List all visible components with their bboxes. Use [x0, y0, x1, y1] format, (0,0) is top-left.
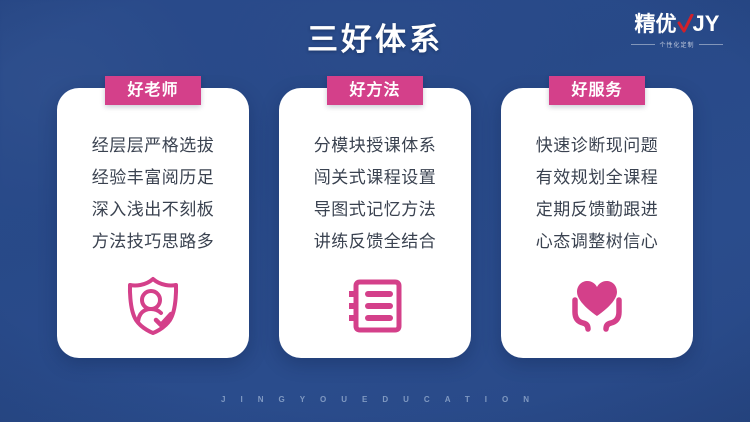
card-1-line-1: 经层层严格选拔 — [92, 130, 215, 162]
card-2-line-1: 分模块授课体系 — [314, 130, 437, 162]
red-check-icon — [677, 14, 694, 34]
card-2-lines: 分模块授课体系 闯关式课程设置 导图式记忆方法 讲练反馈全结合 — [279, 130, 471, 258]
heart-in-hands-icon — [501, 276, 693, 336]
badge-1-label: 好老师 — [127, 83, 178, 99]
logo-subtitle: 个性化定制 — [659, 40, 694, 49]
slide-root: 三好体系 精优 JY 个性化定制 经层层严格选拔 经验丰富阅历足 深入浅出不刻板 — [0, 0, 750, 422]
cards-container: 经层层严格选拔 经验丰富阅历足 深入浅出不刻板 方法技巧思路多 分模块授课体系 … — [0, 0, 750, 422]
logo-chinese-text: 精优 — [635, 14, 677, 35]
footer-brand-text: JINGYOUEDUCATION — [0, 395, 750, 404]
card-1-lines: 经层层严格选拔 经验丰富阅历足 深入浅出不刻板 方法技巧思路多 — [57, 130, 249, 258]
card-3-line-4: 心态调整树信心 — [536, 226, 659, 258]
shield-person-check-icon — [57, 276, 249, 336]
card-2-line-3: 导图式记忆方法 — [314, 194, 437, 226]
card-3-lines: 快速诊断现问题 有效规划全课程 定期反馈勤跟进 心态调整树信心 — [501, 130, 693, 258]
badge-good-service: 好服务 — [549, 76, 645, 105]
logo-english-text: JY — [693, 13, 720, 35]
card-1-line-4: 方法技巧思路多 — [92, 226, 215, 258]
badge-2-label: 好方法 — [349, 83, 400, 99]
card-3-line-1: 快速诊断现问题 — [536, 130, 659, 162]
card-good-method: 分模块授课体系 闯关式课程设置 导图式记忆方法 讲练反馈全结合 — [279, 88, 471, 358]
card-2-line-4: 讲练反馈全结合 — [314, 226, 437, 258]
brand-logo: 精优 JY 个性化定制 — [618, 8, 736, 52]
logo-rule-right — [699, 44, 723, 45]
card-1-line-2: 经验丰富阅历足 — [92, 162, 215, 194]
card-2-line-2: 闯关式课程设置 — [314, 162, 437, 194]
notebook-list-icon — [279, 276, 471, 336]
logo-rule-left — [631, 44, 655, 45]
card-good-teacher: 经层层严格选拔 经验丰富阅历足 深入浅出不刻板 方法技巧思路多 — [57, 88, 249, 358]
card-3-line-2: 有效规划全课程 — [536, 162, 659, 194]
logo-subtitle-row: 个性化定制 — [618, 40, 736, 49]
badge-good-method: 好方法 — [327, 76, 423, 105]
card-3-line-3: 定期反馈勤跟进 — [536, 194, 659, 226]
card-good-service: 快速诊断现问题 有效规划全课程 定期反馈勤跟进 心态调整树信心 — [501, 88, 693, 358]
logo-wordmark: 精优 JY — [635, 11, 720, 37]
card-1-line-3: 深入浅出不刻板 — [92, 194, 215, 226]
badge-good-teacher: 好老师 — [105, 76, 201, 105]
badge-3-label: 好服务 — [571, 83, 622, 99]
